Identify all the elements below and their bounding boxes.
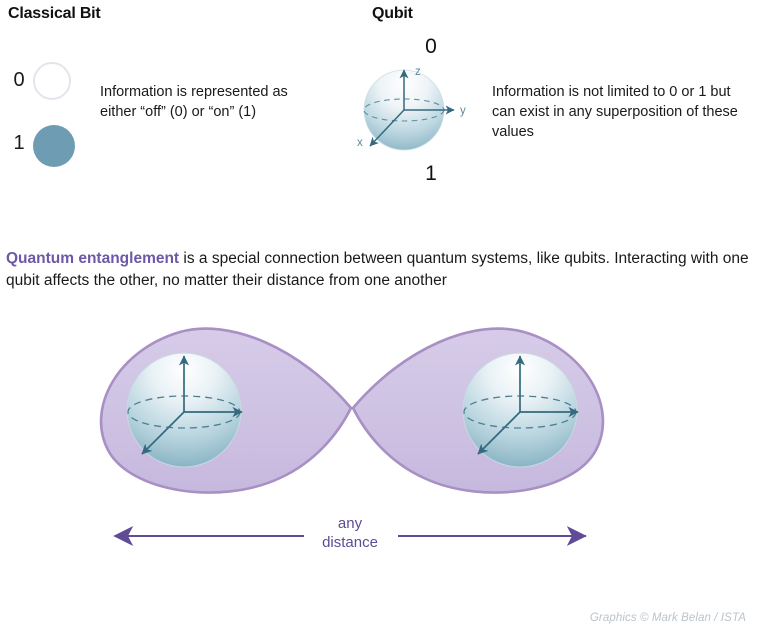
qubit-state-zero-label: 0 [416, 36, 446, 57]
qubit-state-one-label: 1 [416, 163, 446, 184]
classical-bit-heading: Classical Bit [8, 6, 101, 22]
qubit-axis-z-label: z [415, 66, 421, 78]
distance-label-line1: any [300, 514, 400, 533]
distance-label-line2: distance [300, 533, 400, 552]
qubit-section: 0 1 z y x [340, 0, 500, 200]
left-bloch-sphere-icon [127, 353, 242, 467]
bit-label-one: 1 [10, 133, 28, 153]
distance-label: any distance [300, 514, 400, 552]
qubit-axis-x-label: x [357, 137, 363, 149]
filled-circle-icon [33, 125, 75, 167]
bit-label-zero: 0 [10, 70, 28, 90]
classical-bit-description: Information is represented as either “of… [100, 82, 300, 122]
entangled-qubits-bowtie-icon [70, 310, 700, 510]
right-bloch-sphere-icon [463, 353, 578, 467]
credit-attribution: Graphics © Mark Belan / ISTA [590, 612, 746, 624]
qubit-description: Information is not limited to 0 or 1 but… [492, 82, 742, 142]
entanglement-caption: Quantum entanglement is a special connec… [6, 248, 762, 292]
entanglement-term: Quantum entanglement [6, 250, 179, 267]
qubit-axis-y-label: y [460, 105, 466, 117]
bloch-sphere-icon: z y x [356, 58, 486, 163]
empty-circle-icon [33, 62, 71, 100]
